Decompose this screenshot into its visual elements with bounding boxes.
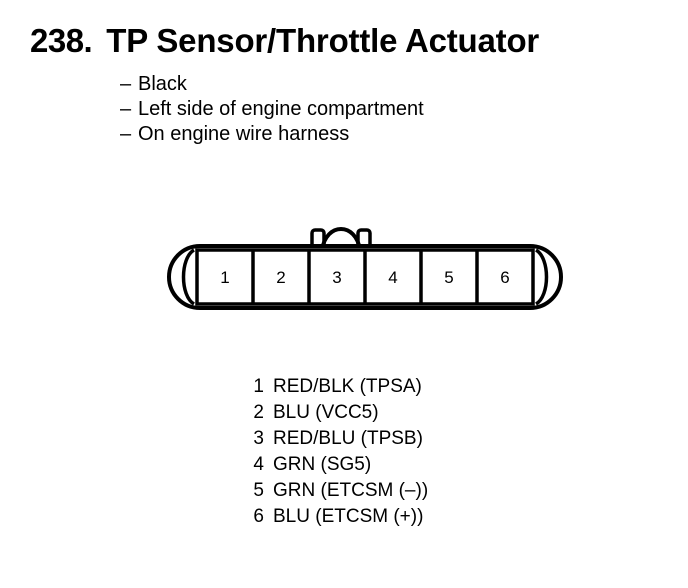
connector-svg: 1 2 3 4 5 6 — [160, 212, 580, 322]
title-number: 238. — [30, 22, 92, 60]
legend-pin-number: 3 — [246, 426, 264, 452]
title-text: TP Sensor/Throttle Actuator — [106, 22, 539, 60]
legend-pin-number: 6 — [246, 504, 264, 530]
legend-item: 2 BLU (VCC5) — [246, 400, 428, 426]
note-dash: – — [120, 72, 138, 97]
legend-item: 4 GRN (SG5) — [246, 452, 428, 478]
pin-number: 4 — [388, 268, 397, 287]
notes-list: – Black – Left side of engine compartmen… — [120, 72, 424, 147]
connector-diagram: 1 2 3 4 5 6 — [160, 212, 580, 322]
pin-legend: 1 RED/BLK (TPSA) 2 BLU (VCC5) 3 RED/BLU … — [246, 374, 428, 530]
pin-number: 5 — [444, 268, 453, 287]
legend-pin-number: 4 — [246, 452, 264, 478]
legend-pin-description: BLU (ETCSM (+)) — [273, 504, 423, 530]
legend-item: 3 RED/BLU (TPSB) — [246, 426, 428, 452]
note-dash: – — [120, 122, 138, 147]
pin-number: 6 — [500, 268, 509, 287]
note-item: – Left side of engine compartment — [120, 97, 424, 122]
legend-item: 1 RED/BLK (TPSA) — [246, 374, 428, 400]
note-item: – On engine wire harness — [120, 122, 424, 147]
pin-number: 3 — [332, 268, 341, 287]
pin-number: 2 — [276, 268, 285, 287]
legend-pin-number: 2 — [246, 400, 264, 426]
legend-item: 6 BLU (ETCSM (+)) — [246, 504, 428, 530]
legend-pin-description: BLU (VCC5) — [273, 400, 379, 426]
pin-number: 1 — [220, 268, 229, 287]
legend-pin-description: GRN (SG5) — [273, 452, 371, 478]
page-title: 238. TP Sensor/Throttle Actuator — [30, 22, 539, 60]
note-label: Left side of engine compartment — [138, 97, 424, 122]
legend-pin-description: RED/BLK (TPSA) — [273, 374, 422, 400]
legend-pin-description: RED/BLU (TPSB) — [273, 426, 423, 452]
note-label: On engine wire harness — [138, 122, 349, 147]
legend-pin-number: 5 — [246, 478, 264, 504]
legend-item: 5 GRN (ETCSM (–)) — [246, 478, 428, 504]
legend-pin-description: GRN (ETCSM (–)) — [273, 478, 428, 504]
legend-pin-number: 1 — [246, 374, 264, 400]
note-dash: – — [120, 97, 138, 122]
note-item: – Black — [120, 72, 424, 97]
note-label: Black — [138, 72, 187, 97]
